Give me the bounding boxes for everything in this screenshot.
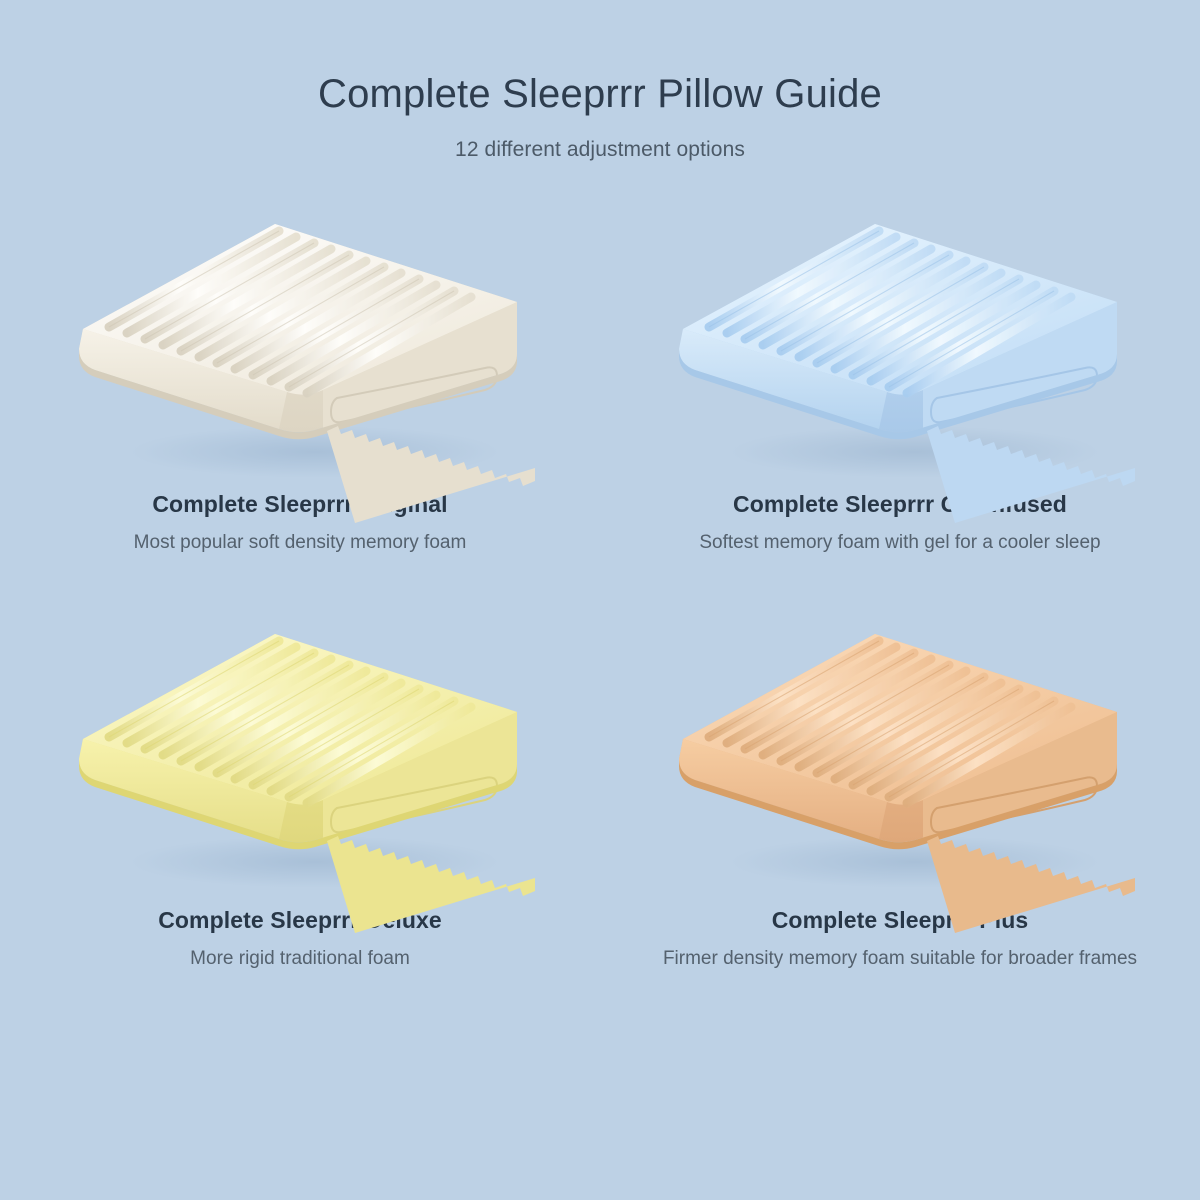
page-subtitle: 12 different adjustment options: [0, 138, 1200, 162]
product-caption-plus: Complete Sleeprrr Plus Firmer density me…: [630, 906, 1170, 971]
pillow-image-original: [40, 184, 560, 484]
pillow-image-deluxe: [40, 584, 560, 904]
pillow-image-plus: [640, 584, 1160, 904]
page-header: Complete Sleeprrr Pillow Guide 12 differ…: [0, 0, 1200, 162]
contoured-foam-pillow-icon: [665, 589, 1135, 899]
product-card-gel-infused[interactable]: Complete Sleeprrr Gel Infused Softest me…: [600, 184, 1200, 584]
contoured-foam-pillow-icon: [665, 184, 1135, 484]
product-name: Complete Sleeprrr Plus: [630, 906, 1170, 935]
pillow-image-gel-infused: [640, 184, 1160, 484]
product-card-plus[interactable]: Complete Sleeprrr Plus Firmer density me…: [600, 584, 1200, 1024]
page-title: Complete Sleeprrr Pillow Guide: [0, 72, 1200, 116]
product-description: Most popular soft density memory foam: [30, 530, 570, 555]
product-name: Complete Sleeprrr Deluxe: [30, 906, 570, 935]
pillow-guide-page: Complete Sleeprrr Pillow Guide 12 differ…: [0, 0, 1200, 1200]
contoured-foam-pillow-icon: [65, 589, 535, 899]
contoured-foam-pillow-icon: [65, 184, 535, 484]
product-card-original[interactable]: Complete Sleeprrr Original Most popular …: [0, 184, 600, 584]
product-caption-deluxe: Complete Sleeprrr Deluxe More rigid trad…: [30, 906, 570, 971]
product-caption-gel-infused: Complete Sleeprrr Gel Infused Softest me…: [630, 490, 1170, 555]
product-description: Firmer density memory foam suitable for …: [630, 946, 1170, 971]
product-grid: Complete Sleeprrr Original Most popular …: [0, 184, 1200, 1200]
product-card-deluxe[interactable]: Complete Sleeprrr Deluxe More rigid trad…: [0, 584, 600, 1024]
product-description: Softest memory foam with gel for a coole…: [630, 530, 1170, 555]
product-description: More rigid traditional foam: [30, 946, 570, 971]
product-name: Complete Sleeprrr Gel Infused: [630, 490, 1170, 519]
product-name: Complete Sleeprrr Original: [30, 490, 570, 519]
product-caption-original: Complete Sleeprrr Original Most popular …: [30, 490, 570, 555]
